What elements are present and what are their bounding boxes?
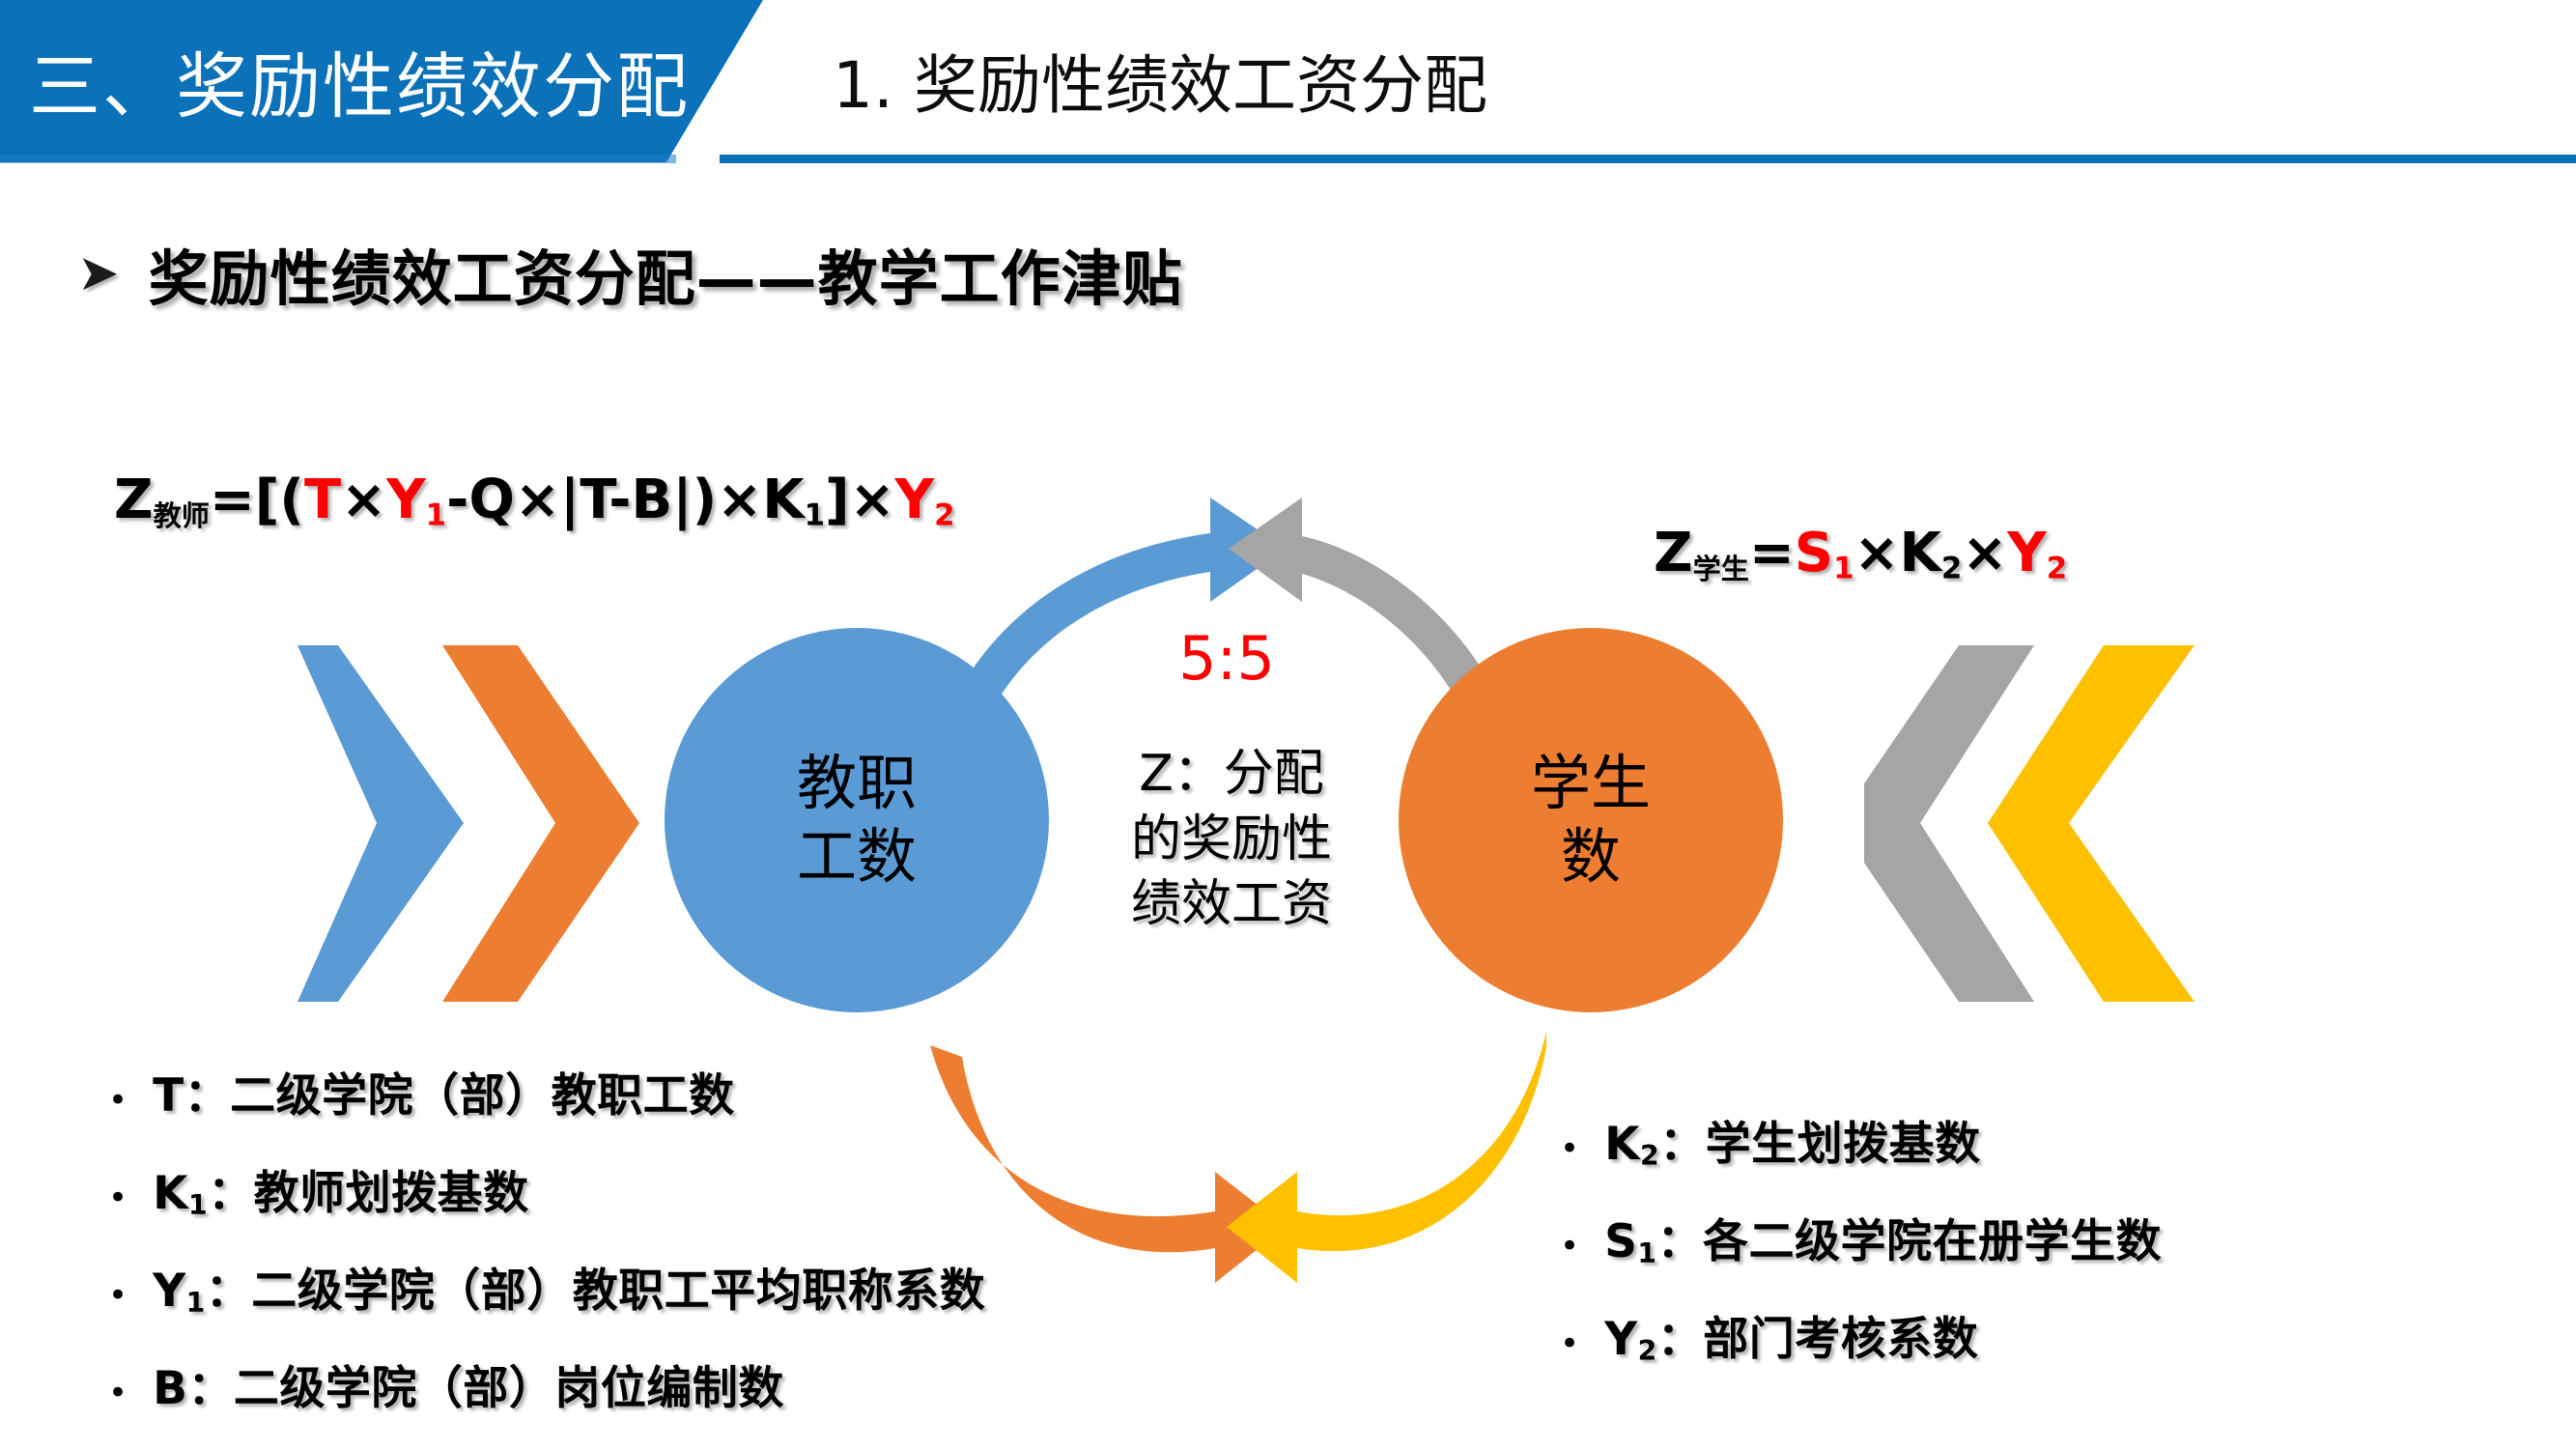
center-description-line1: Z：分配 [1067, 742, 1396, 808]
bullet-dot-icon: • [1560, 1230, 1579, 1263]
legend-right-item-1: S1：各二级学院在册学生数 [1604, 1204, 2162, 1270]
circle-staff-count[interactable]: 教职 工数 [665, 628, 1049, 1012]
bullet-dot-icon: • [108, 1279, 127, 1312]
circle-student-line1: 学生 [1531, 747, 1651, 820]
ratio-label: 5:5 [1120, 623, 1333, 694]
list-item: • K1：教师划拨基数 [108, 1155, 985, 1222]
bullet-dot-icon: • [1560, 1132, 1579, 1165]
circle-student-line2: 数 [1561, 820, 1621, 894]
list-item: • S1：各二级学院在册学生数 [1560, 1204, 2162, 1270]
list-item: • K2：学生划拨基数 [1560, 1106, 2162, 1173]
legend-left-item-3: B：二级学院（部）岗位编制数 [153, 1350, 784, 1417]
center-description: Z：分配 的奖励性 绩效工资 [1067, 742, 1396, 938]
legend-right-item-0: K2：学生划拨基数 [1604, 1106, 1981, 1173]
center-description-line3: 绩效工资 [1067, 872, 1396, 938]
bullet-dot-icon: • [108, 1181, 127, 1214]
bullet-dot-icon: • [108, 1377, 127, 1409]
list-item: • T：二级学院（部）教职工数 [108, 1058, 985, 1124]
center-description-line2: 的奖励性 [1067, 808, 1396, 873]
list-item: • Y1：二级学院（部）教职工平均职称系数 [108, 1253, 985, 1320]
legend-left-item-0: T：二级学院（部）教职工数 [153, 1058, 735, 1124]
legend-left: • T：二级学院（部）教职工数 • K1：教师划拨基数 • Y1：二级学院（部）… [108, 1058, 985, 1448]
bullet-dot-icon: • [1560, 1327, 1579, 1360]
legend-right-item-2: Y2：部门考核系数 [1604, 1301, 1978, 1368]
yellow-curved-arrow-left-icon [1227, 1032, 1546, 1283]
list-item: • Y2：部门考核系数 [1560, 1301, 2162, 1368]
circle-student-count[interactable]: 学生 数 [1399, 628, 1783, 1012]
legend-left-item-2: Y1：二级学院（部）教职工平均职称系数 [153, 1253, 985, 1320]
list-item: • B：二级学院（部）岗位编制数 [108, 1350, 985, 1417]
bullet-dot-icon: • [108, 1084, 127, 1117]
legend-left-item-1: K1：教师划拨基数 [153, 1155, 529, 1222]
legend-right: • K2：学生划拨基数 • S1：各二级学院在册学生数 • Y2：部门考核系数 [1560, 1106, 2162, 1399]
circle-staff-line1: 教职 [797, 747, 917, 820]
circle-staff-line2: 工数 [797, 820, 917, 894]
